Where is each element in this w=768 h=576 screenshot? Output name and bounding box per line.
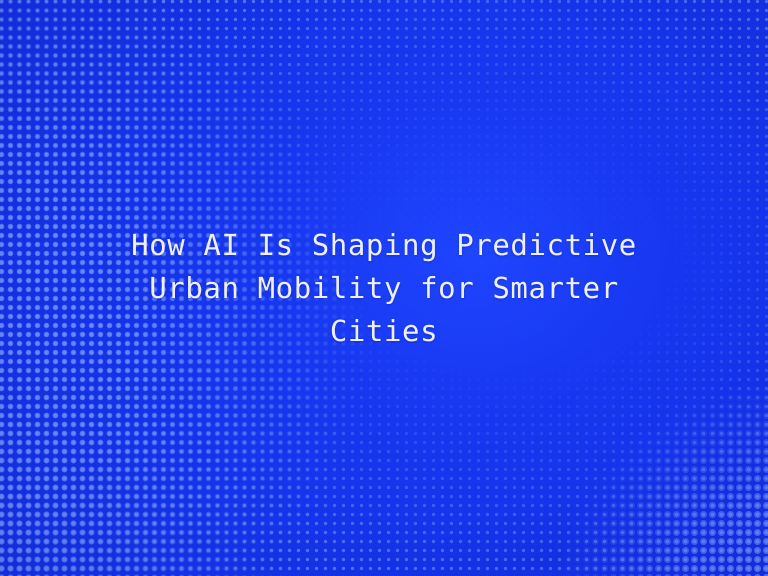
page-title: How AI Is Shaping Predictive Urban Mobil…: [114, 224, 654, 353]
title-block: How AI Is Shaping Predictive Urban Mobil…: [0, 0, 768, 576]
title-card: How AI Is Shaping Predictive Urban Mobil…: [0, 0, 768, 576]
